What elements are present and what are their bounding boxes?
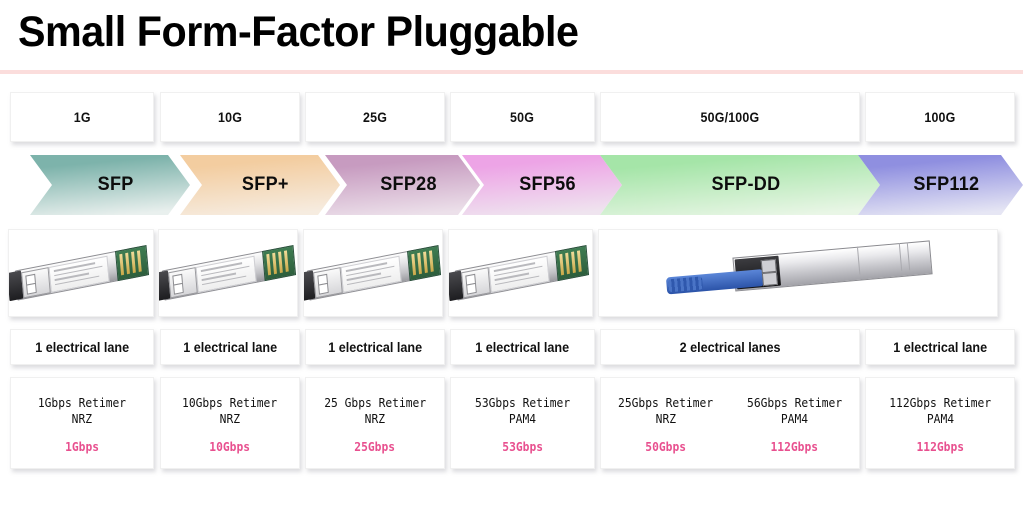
module-photo-sfp-dd [598,229,998,317]
spec-modulation: NRZ [365,412,385,426]
form-factor-arrow-row: SFPSFP+SFP28SFP56SFP-DDSFP112 [0,155,1023,219]
speed-label: 50G/100G [701,110,760,125]
spec-sub-column: 112Gbps RetimerPAM4112Gbps [866,378,1014,468]
form-factor-label: SFP-DD [711,174,780,196]
lane-label: 1 electrical lane [328,339,422,355]
header-divider [0,70,1023,74]
spec-total-bandwidth: 53Gbps [502,440,543,454]
spec-rate: 53Gbps Retimer [475,396,570,410]
form-factor-label: SFP+ [242,174,289,196]
form-factor-label: SFP56 [519,174,576,196]
spec-total-bandwidth: 112Gbps [771,440,819,454]
spec-group: 1Gbps RetimerNRZ1Gbps [11,378,153,468]
sfp-transceiver-icon [15,245,147,300]
speed-cell-sfp: 1G [10,92,154,142]
spec-modulation: PAM4 [781,412,808,426]
spec-cell-sfp28: 25 Gbps RetimerNRZ25Gbps [305,377,445,469]
form-factor-label: SFP28 [380,174,437,196]
spec-cell-sfp-plus: 10Gbps RetimerNRZ10Gbps [160,377,300,469]
speed-label: 1G [74,110,91,125]
speed-label: 100G [924,110,955,125]
spec-sub-column: 53Gbps RetimerPAM453Gbps [451,378,594,468]
lane-cell-sfp-plus: 1 electrical lane [160,329,300,365]
lane-label: 1 electrical lane [35,339,129,355]
speed-label: 50G [510,110,534,125]
speed-cell-sfp112: 100G [865,92,1015,142]
speed-cell-sfp-dd: 50G/100G [600,92,860,142]
spec-modulation: PAM4 [509,412,536,426]
lane-label: 1 electrical lane [476,339,570,355]
spec-total-bandwidth: 50Gbps [645,440,686,454]
spec-rate: 10Gbps Retimer [182,396,277,410]
spec-modulation: NRZ [655,412,675,426]
spec-row: 1Gbps RetimerNRZ1Gbps10Gbps RetimerNRZ10… [0,377,1023,473]
module-photo-sfp28 [303,229,443,317]
lane-label: 2 electrical lanes [680,339,781,355]
lane-cell-sfp112: 1 electrical lane [865,329,1015,365]
spec-total-bandwidth: 1Gbps [65,440,99,454]
spec-rate: 112Gbps Retimer [889,396,991,410]
speed-label: 25G [363,110,387,125]
lane-label: 1 electrical lane [183,339,277,355]
spec-cell-sfp: 1Gbps RetimerNRZ1Gbps [10,377,154,469]
form-factor-arrow-sfp-plus[interactable]: SFP+ [180,155,340,215]
spec-group: 112Gbps RetimerPAM4112Gbps [866,378,1014,468]
sfp-transceiver-icon [307,245,439,300]
spec-total-bandwidth: 25Gbps [355,440,396,454]
lane-label: 1 electrical lane [893,339,987,355]
form-factor-arrow-sfp112[interactable]: SFP112 [858,155,1023,215]
lane-cell-sfp56: 1 electrical lane [450,329,595,365]
module-photo-sfp56 [448,229,593,317]
page-title: Small Form-Factor Pluggable [18,8,578,57]
spec-cell-sfp56: 53Gbps RetimerPAM453Gbps [450,377,595,469]
speed-cell-sfp-plus: 10G [160,92,300,142]
electrical-lane-row: 1 electrical lane1 electrical lane1 elec… [0,329,1023,369]
spec-modulation: PAM4 [926,412,953,426]
spec-total-bandwidth: 10Gbps [210,440,251,454]
header: Small Form-Factor Pluggable [0,0,1023,72]
spec-rate: 25Gbps Retimer [618,396,713,410]
speed-row: 1G10G25G50G50G/100G100G [0,92,1023,147]
form-factor-label: SFP112 [913,174,979,196]
sfp-transceiver-icon [162,245,294,300]
form-factor-arrow-sfp[interactable]: SFP [30,155,190,215]
module-photo-row [0,229,1023,321]
spec-modulation: NRZ [220,412,240,426]
spec-rate: 25 Gbps Retimer [324,396,426,410]
spec-group: 25 Gbps RetimerNRZ25Gbps [306,378,444,468]
lane-cell-sfp-dd: 2 electrical lanes [600,329,860,365]
form-factor-arrow-sfp56[interactable]: SFP56 [462,155,622,215]
module-photo-sfp-plus [158,229,298,317]
spec-rate: 1Gbps Retimer [38,396,126,410]
sfp-transceiver-icon [454,245,586,300]
speed-label: 10G [218,110,242,125]
speed-cell-sfp56: 50G [450,92,595,142]
spec-sub-column: 56Gbps RetimerPAM4112Gbps [730,378,859,468]
spec-sub-column: 10Gbps RetimerNRZ10Gbps [161,378,299,468]
sfp-dd-transceiver-icon [663,238,934,307]
form-factor-arrow-sfp28[interactable]: SFP28 [325,155,480,215]
module-photo-sfp [8,229,154,317]
form-factor-label: SFP [98,174,134,196]
spec-total-bandwidth: 112Gbps [916,440,964,454]
form-factor-arrow-sfp-dd[interactable]: SFP-DD [600,155,880,215]
lane-cell-sfp28: 1 electrical lane [305,329,445,365]
spec-sub-column: 25Gbps RetimerNRZ50Gbps [601,378,730,468]
lane-cell-sfp: 1 electrical lane [10,329,154,365]
spec-cell-sfp112: 112Gbps RetimerPAM4112Gbps [865,377,1015,469]
spec-group: 25Gbps RetimerNRZ50Gbps56Gbps RetimerPAM… [601,378,859,468]
spec-sub-column: 1Gbps RetimerNRZ1Gbps [11,378,153,468]
spec-rate: 56Gbps Retimer [747,396,842,410]
spec-group: 53Gbps RetimerPAM453Gbps [451,378,594,468]
speed-cell-sfp28: 25G [305,92,445,142]
spec-modulation: NRZ [72,412,92,426]
spec-group: 10Gbps RetimerNRZ10Gbps [161,378,299,468]
spec-sub-column: 25 Gbps RetimerNRZ25Gbps [306,378,444,468]
spec-cell-sfp-dd: 25Gbps RetimerNRZ50Gbps56Gbps RetimerPAM… [600,377,860,469]
